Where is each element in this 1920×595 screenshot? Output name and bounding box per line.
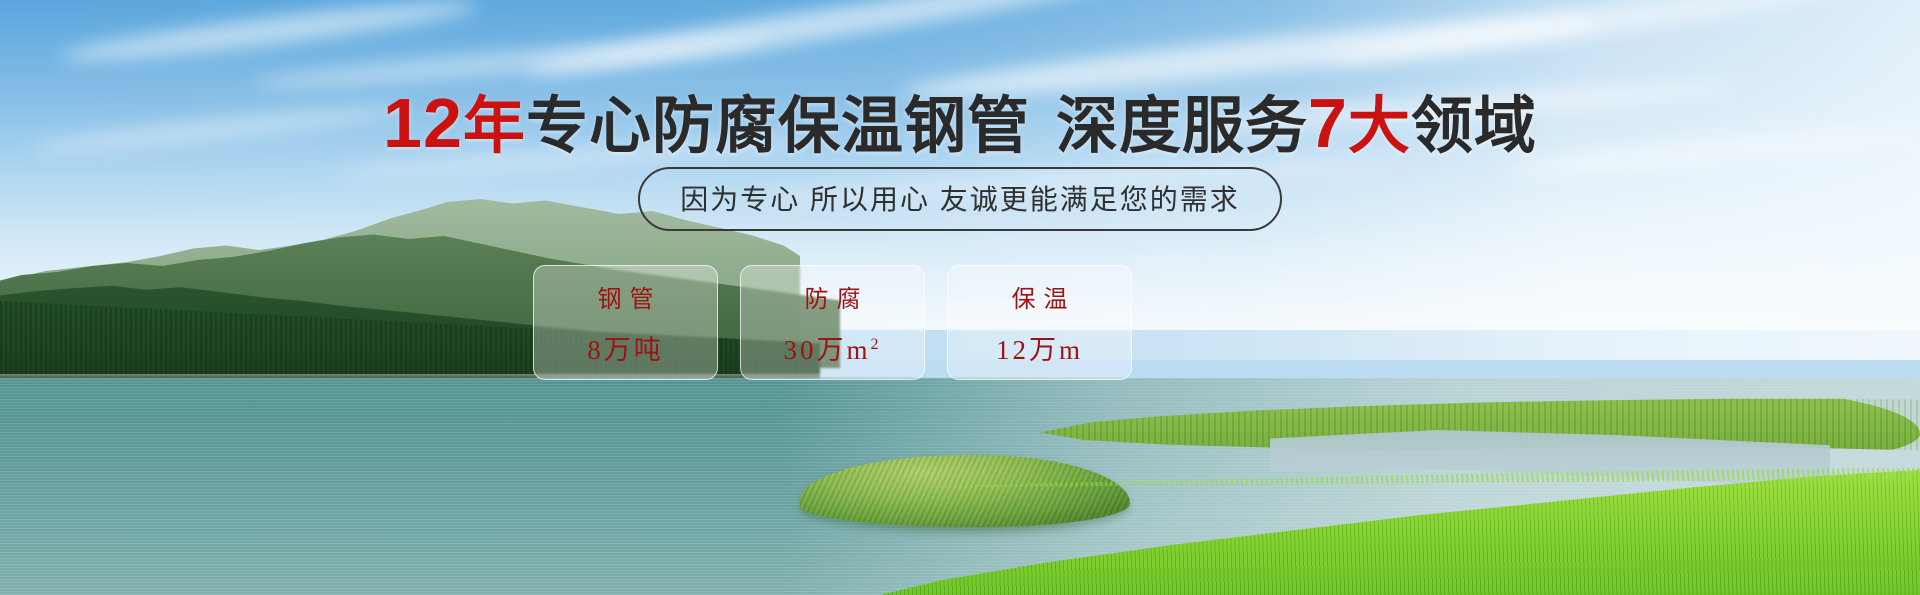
- stat-card-insulation[interactable]: 保温 12万m: [947, 265, 1132, 380]
- stat-card-value: 12万m: [996, 328, 1083, 367]
- stat-card-group: 钢管 8万吨 防腐 30万m2 保温 12万m: [533, 265, 1132, 380]
- stat-card-value-main: 8万吨: [587, 335, 664, 365]
- stat-card-value: 30万m2: [783, 328, 881, 367]
- headline-fields-number: 7: [1308, 84, 1348, 162]
- stat-card-value: 8万吨: [587, 328, 664, 367]
- headline-fields-unit: 大: [1348, 92, 1411, 161]
- headline-main-text: 专心防腐保温钢管: [526, 92, 1030, 161]
- hero-banner: 12年专心防腐保温钢管深度服务7大领域 因为专心 所以用心 友诚更能满足您的需求…: [0, 0, 1920, 595]
- stat-card-title: 保温: [1004, 279, 1076, 314]
- stat-card-title: 钢管: [590, 279, 662, 314]
- banner-subtitle-wrap: 因为专心 所以用心 友诚更能满足您的需求: [0, 167, 1920, 231]
- stat-card-value-main: 12万m: [996, 335, 1083, 365]
- stat-card-title: 防腐: [797, 279, 869, 314]
- headline-years-number: 12: [383, 84, 463, 162]
- stat-card-value-superscript: 2: [871, 336, 882, 353]
- stat-card-value-main: 30万m: [783, 335, 870, 365]
- headline-fields-tail: 领域: [1411, 92, 1537, 161]
- banner-headline: 12年专心防腐保温钢管深度服务7大领域: [0, 88, 1920, 158]
- stat-card-anticorrosion[interactable]: 防腐 30万m2: [740, 265, 925, 380]
- headline-service-text: 深度服务: [1056, 92, 1308, 161]
- stat-card-steel-pipe[interactable]: 钢管 8万吨: [533, 265, 718, 380]
- headline-years-unit: 年: [463, 92, 526, 161]
- banner-subtitle: 因为专心 所以用心 友诚更能满足您的需求: [638, 167, 1282, 231]
